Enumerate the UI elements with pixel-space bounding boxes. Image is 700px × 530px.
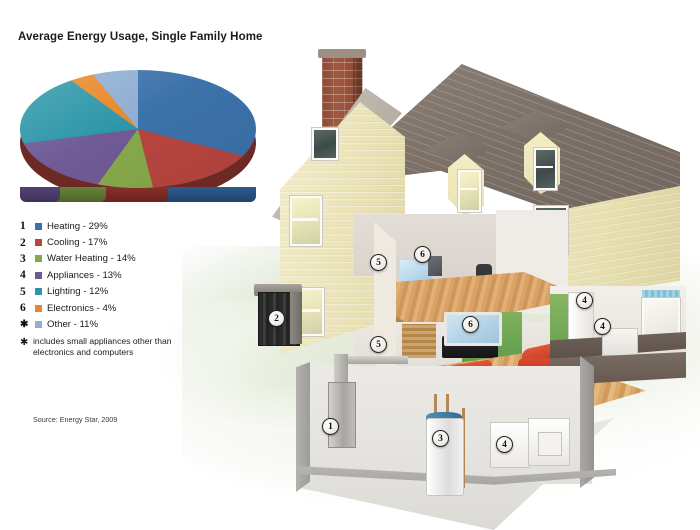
callout-badge-5-floor-lamp[interactable]: 5 <box>370 336 387 353</box>
legend-swatch <box>35 321 42 328</box>
legend-key: 1 <box>20 220 35 232</box>
dryer-door <box>538 432 562 456</box>
legend-item-other: ✱ Other - 11% <box>20 316 230 332</box>
furnace <box>328 382 356 448</box>
legend-key: 5 <box>20 286 35 298</box>
legend-item-water-heating: 3 Water Heating - 14% <box>20 251 230 267</box>
dormer-1-window <box>458 170 481 212</box>
legend-swatch <box>35 239 42 246</box>
foundation-wall-right <box>580 356 594 488</box>
legend-key: 2 <box>20 237 35 249</box>
water-heater <box>426 418 464 496</box>
chimney-cap <box>318 49 366 58</box>
callout-badge-1-furnace[interactable]: 1 <box>322 418 339 435</box>
legend-item-heating: 1 Heating - 29% <box>20 218 230 234</box>
asterisk-icon: ✱ <box>20 336 33 359</box>
front-window-upper <box>290 196 322 246</box>
computer-tower <box>428 256 442 276</box>
legend-swatch <box>35 255 42 262</box>
legend-key: 6 <box>20 302 35 314</box>
footnote: ✱ includes small appliances other than e… <box>20 336 205 359</box>
legend-swatch <box>35 305 42 312</box>
legend-swatch <box>35 272 42 279</box>
legend-item-lighting: 5 Lighting - 12% <box>20 284 230 300</box>
callout-badge-6-computer[interactable]: 6 <box>414 246 431 263</box>
pie-edge-appliances <box>20 187 60 202</box>
source-credit: Source: Energy Star, 2009 <box>33 415 117 424</box>
callout-badge-4-stove[interactable]: 4 <box>594 318 611 335</box>
heating-duct-horizontal <box>346 356 408 364</box>
attic-window <box>312 128 338 160</box>
legend-label: Heating - 29% <box>47 221 108 232</box>
dormer-1-window-muntin <box>458 188 477 190</box>
callout-badge-5-desk-lamp[interactable]: 5 <box>370 254 387 271</box>
callout-badge-6-television[interactable]: 6 <box>462 316 479 333</box>
legend-label: Water Heating - 14% <box>47 253 136 264</box>
footnote-text: includes small appliances other than ele… <box>33 336 205 359</box>
legend-label: Lighting - 12% <box>47 286 108 297</box>
house-illustration: 2 5 6 4 4 6 5 1 3 4 <box>250 36 700 506</box>
kitchen-window <box>642 298 680 338</box>
legend-key: 3 <box>20 253 35 265</box>
chart-legend: 1 Heating - 29% 2 Cooling - 17% 3 Water … <box>20 218 230 333</box>
legend-label: Appliances - 13% <box>47 270 122 281</box>
legend-swatch <box>35 288 42 295</box>
dormer-2-window <box>534 148 557 190</box>
ac-unit-side <box>290 292 302 344</box>
legend-item-electronics: 6 Electronics - 4% <box>20 300 230 316</box>
callout-badge-2-air-conditioner[interactable]: 2 <box>268 310 285 327</box>
infographic-canvas: Average Energy Usage, Single Family Home… <box>0 0 700 525</box>
legend-key: ✱ <box>20 319 35 330</box>
front-window-upper-muntin <box>290 218 318 221</box>
pie-chart <box>12 62 264 212</box>
legend-label: Other - 11% <box>47 319 98 330</box>
legend-key: 4 <box>20 269 35 281</box>
callout-badge-3-water-heater[interactable]: 3 <box>432 430 449 447</box>
pie-slice-set <box>20 70 256 188</box>
pie-slices <box>20 70 256 188</box>
legend-label: Cooling - 17% <box>47 237 107 248</box>
legend-item-appliances: 4 Appliances - 13% <box>20 267 230 283</box>
legend-item-cooling: 2 Cooling - 17% <box>20 234 230 250</box>
legend-swatch <box>35 223 42 230</box>
callout-badge-4-washer-dryer[interactable]: 4 <box>496 436 513 453</box>
page-title: Average Energy Usage, Single Family Home <box>18 31 263 43</box>
callout-badge-4-refrigerator[interactable]: 4 <box>576 292 593 309</box>
staircase <box>402 324 436 358</box>
legend-label: Electronics - 4% <box>47 303 116 314</box>
dormer-2-window-muntin <box>534 166 553 168</box>
